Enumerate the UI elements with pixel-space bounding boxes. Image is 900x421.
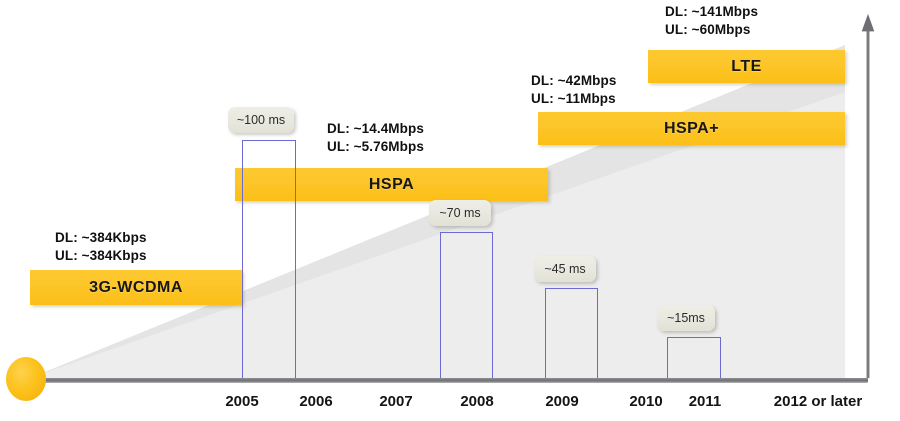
year-label-2011: 2011 (645, 393, 765, 410)
up-arrow-icon (858, 12, 878, 380)
downlink-rate: DL: ~141Mbps (665, 3, 758, 21)
tech-bar-hspa: HSPA+ (538, 112, 845, 145)
bracket-latency-2009 (545, 288, 598, 380)
downlink-rate: DL: ~384Kbps (55, 229, 147, 247)
chip-latency-2008: ~70 ms (429, 200, 491, 226)
uplink-rate: UL: ~60Mbps (665, 21, 758, 39)
timeline-axis (38, 378, 868, 383)
tech-bar-label: HSPA (369, 176, 414, 194)
tech-bar-3g-wcdma: 3G-WCDMA (30, 270, 242, 305)
tech-bar-lte: LTE (648, 50, 845, 83)
data-rates-hspa: DL: ~42MbpsUL: ~11Mbps (531, 72, 617, 108)
downlink-rate: DL: ~14.4Mbps (327, 120, 424, 138)
uplink-rate: UL: ~11Mbps (531, 90, 617, 108)
data-rates-hspa: DL: ~14.4MbpsUL: ~5.76Mbps (327, 120, 424, 156)
tech-bar-label: LTE (731, 58, 762, 76)
bracket-latency-2008 (440, 232, 493, 380)
data-rates-3g-wcdma: DL: ~384KbpsUL: ~384Kbps (55, 229, 147, 265)
chip-latency-2005: ~100 ms (228, 107, 294, 133)
bracket-latency-2011 (667, 337, 721, 380)
downlink-rate: DL: ~42Mbps (531, 72, 617, 90)
year-label-2012-or-later: 2012 or later (758, 393, 878, 410)
chip-latency-2011: ~15ms (657, 305, 715, 331)
bracket-latency-2005 (242, 140, 296, 380)
tech-bar-label: 3G-WCDMA (89, 279, 183, 297)
diagram-canvas: 3G-WCDMAHSPAHSPA+LTE DL: ~384KbpsUL: ~38… (0, 0, 900, 421)
origin-dot (6, 357, 46, 401)
data-rates-lte: DL: ~141MbpsUL: ~60Mbps (665, 3, 758, 39)
tech-bar-label: HSPA+ (664, 120, 719, 138)
uplink-rate: UL: ~384Kbps (55, 247, 147, 265)
chip-latency-2009: ~45 ms (534, 256, 596, 282)
uplink-rate: UL: ~5.76Mbps (327, 138, 424, 156)
